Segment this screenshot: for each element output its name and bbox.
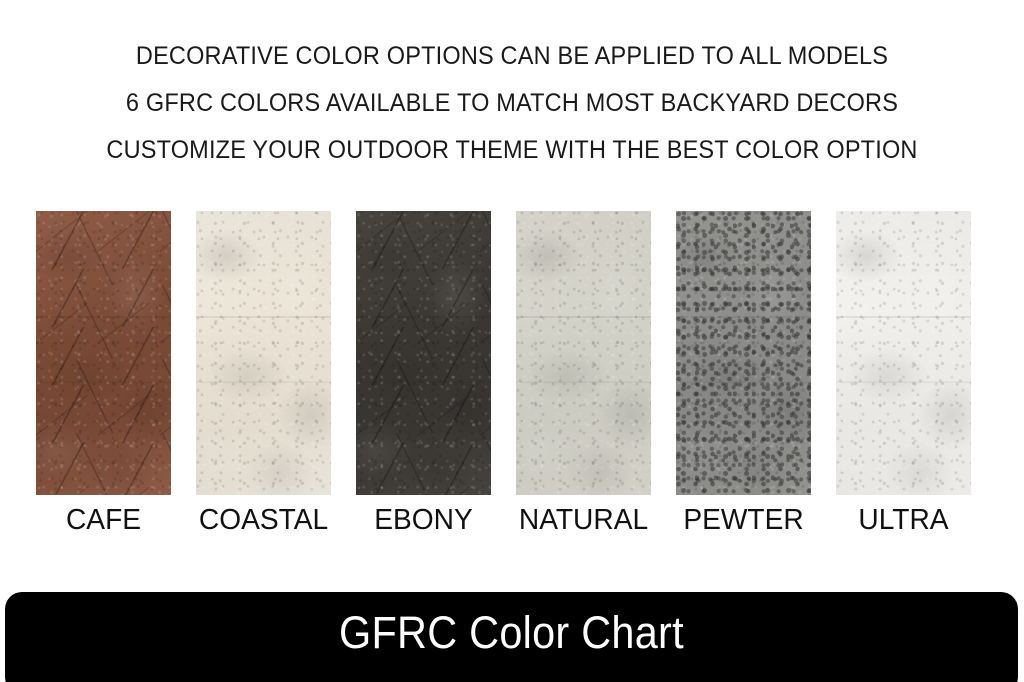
swatch-chip-pewter[interactable]	[676, 211, 811, 495]
headline-block: DECORATIVE COLOR OPTIONS CAN BE APPLIED …	[0, 33, 1024, 174]
swatch-seams-pewter	[676, 211, 811, 495]
swatch-chip-coastal[interactable]	[196, 211, 331, 495]
swatch-cell-coastal[interactable]: COASTAL	[196, 211, 331, 495]
swatch-chip-ebony[interactable]	[356, 211, 491, 495]
banner-title: GFRC Color Chart	[339, 606, 684, 660]
swatch-label-cafe: CAFE	[17, 503, 191, 537]
headline-line-3: CUSTOMIZE YOUR OUTDOOR THEME WITH THE BE…	[31, 127, 994, 174]
headline-line-1: DECORATIVE COLOR OPTIONS CAN BE APPLIED …	[31, 33, 994, 80]
swatch-seams-ultra	[836, 211, 971, 495]
swatch-seams-ebony	[356, 211, 491, 495]
bottom-banner: GFRC Color Chart	[5, 592, 1018, 682]
headline-line-2: 6 GFRC COLORS AVAILABLE TO MATCH MOST BA…	[31, 80, 994, 127]
swatch-seams-cafe	[36, 211, 171, 495]
swatch-seams-coastal	[196, 211, 331, 495]
color-swatch-row: CAFE COASTAL EBONY	[36, 211, 988, 495]
swatch-label-pewter: PEWTER	[657, 503, 831, 537]
swatch-cell-natural[interactable]: NATURAL	[516, 211, 651, 495]
swatch-seams-natural	[516, 211, 651, 495]
swatch-label-ebony: EBONY	[337, 503, 511, 537]
swatch-cell-ebony[interactable]: EBONY	[356, 211, 491, 495]
swatch-chip-natural[interactable]	[516, 211, 651, 495]
swatch-label-coastal: COASTAL	[177, 503, 351, 537]
swatch-chip-ultra[interactable]	[836, 211, 971, 495]
swatch-label-ultra: ULTRA	[817, 503, 991, 537]
swatch-cell-cafe[interactable]: CAFE	[36, 211, 171, 495]
swatch-cell-pewter[interactable]: PEWTER	[676, 211, 811, 495]
swatch-chip-cafe[interactable]	[36, 211, 171, 495]
swatch-label-natural: NATURAL	[497, 503, 671, 537]
swatch-cell-ultra[interactable]: ULTRA	[836, 211, 971, 495]
